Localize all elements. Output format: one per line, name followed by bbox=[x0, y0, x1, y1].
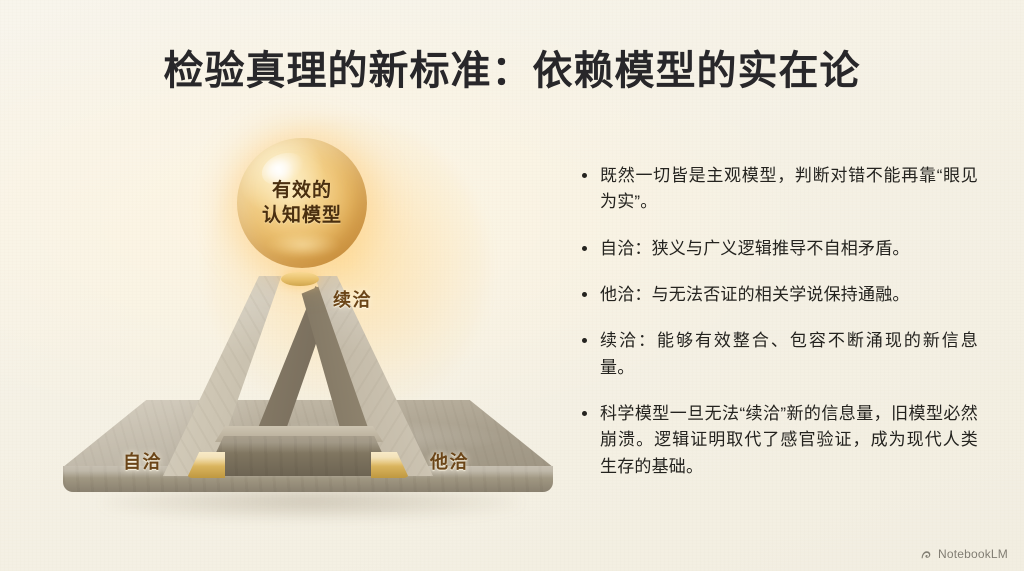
list-item: 续洽：能够有效整合、包容不断涌现的新信息量。 bbox=[578, 328, 978, 381]
page-title: 检验真理的新标准：依赖模型的实在论 bbox=[0, 38, 1024, 96]
bullet-dot-icon bbox=[582, 292, 587, 297]
sphere-label-line2: 认知模型 bbox=[262, 204, 342, 227]
bullet-list: 既然一切皆是主观模型，判断对错不能再靠“眼见为实”。 自洽：狭义与广义逻辑推导不… bbox=[578, 163, 978, 480]
vertex-label-ziqia: 自洽 bbox=[123, 448, 162, 474]
list-item-text: 既然一切皆是主观模型，判断对错不能再靠“眼见为实”。 bbox=[600, 166, 978, 211]
list-item-text: 续洽：能够有效整合、包容不断涌现的新信息量。 bbox=[600, 331, 978, 376]
list-item: 他洽：与无法否证的相关学说保持通融。 bbox=[578, 282, 978, 308]
vertex-label-xuqia: 续洽 bbox=[333, 286, 372, 312]
list-item: 科学模型一旦无法“续洽”新的信息量，旧模型必然崩溃。逻辑证明取代了感官验证，成为… bbox=[578, 401, 978, 480]
bullet-dot-icon bbox=[582, 411, 587, 416]
list-item: 自洽：狭义与广义逻辑推导不自相矛盾。 bbox=[578, 236, 978, 262]
illustration: 有效的 认知模型 续洽 自洽 他洽 bbox=[45, 110, 565, 530]
sphere-label-line1: 有效的 bbox=[272, 179, 332, 202]
gold-apex-cap bbox=[281, 272, 319, 286]
bullet-dot-icon bbox=[582, 246, 587, 251]
golden-sphere: 有效的 认知模型 bbox=[237, 138, 367, 268]
notebooklm-label: NotebookLM bbox=[938, 547, 1008, 561]
bullet-dot-icon bbox=[582, 173, 587, 178]
list-item-text: 科学模型一旦无法“续洽”新的信息量，旧模型必然崩溃。逻辑证明取代了感官验证，成为… bbox=[600, 404, 978, 476]
triangular-prism-monument bbox=[163, 276, 433, 476]
vertex-label-taqia: 他洽 bbox=[430, 448, 469, 474]
slide: 检验真理的新标准：依赖模型的实在论 有效的 认知模型 bbox=[0, 0, 1024, 571]
bullet-dot-icon bbox=[582, 338, 587, 343]
notebooklm-logo-icon bbox=[920, 548, 933, 561]
prism-bottom-bar-front bbox=[205, 436, 393, 476]
notebooklm-watermark: NotebookLM bbox=[920, 547, 1008, 561]
list-item: 既然一切皆是主观模型，判断对错不能再靠“眼见为实”。 bbox=[578, 163, 978, 216]
list-item-text: 他洽：与无法否证的相关学说保持通融。 bbox=[600, 285, 910, 304]
list-item-text: 自洽：狭义与广义逻辑推导不自相矛盾。 bbox=[600, 239, 910, 258]
sphere-label: 有效的 认知模型 bbox=[237, 138, 367, 268]
